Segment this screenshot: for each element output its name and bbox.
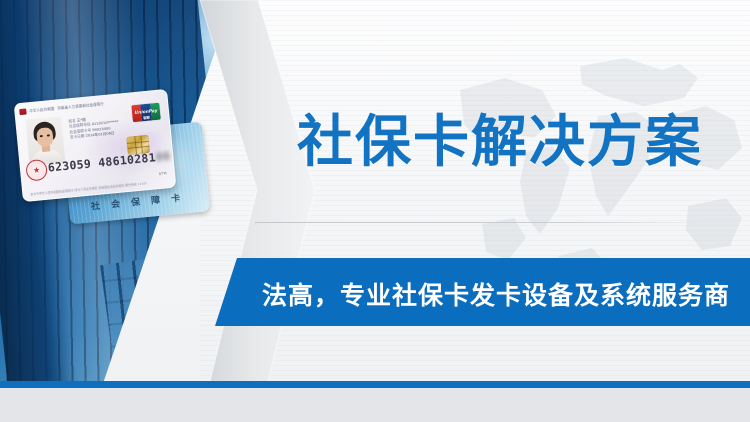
card-issuer-prefix: 中华人民共和国 — [29, 106, 55, 113]
unionpay-logo-icon: UnionPay 银联 — [131, 103, 161, 123]
bottom-blue-stripe — [0, 381, 750, 388]
subtitle-text: 法高，专业社保卡发卡设备及系统服务商 — [262, 276, 730, 312]
photo-eye-left — [40, 135, 43, 137]
page-title: 社保卡解决方案 — [297, 97, 703, 178]
photo-face — [36, 127, 54, 147]
cardholder-photo — [25, 116, 65, 165]
banner-root: 社保卡解决方案 法高，专业社保卡发卡设备及系统服务商 社 会 保 障 卡 中华人… — [0, 0, 750, 422]
title-underline-rule — [255, 222, 710, 223]
social-security-card-front: 中华人民共和国 河南省人力资源和社会保障厅 姓名 王*丽 社会保障号码 4110… — [14, 89, 177, 202]
card-issuer-name: 河南省人力资源和社会保障厅 — [57, 101, 104, 110]
photo-eye-right — [47, 134, 50, 136]
card-number: 623059 4861028100 40 — [47, 147, 176, 175]
bottom-grey-band — [0, 388, 750, 422]
national-emblem-icon — [19, 108, 27, 115]
atm-label: ATM — [159, 171, 168, 176]
